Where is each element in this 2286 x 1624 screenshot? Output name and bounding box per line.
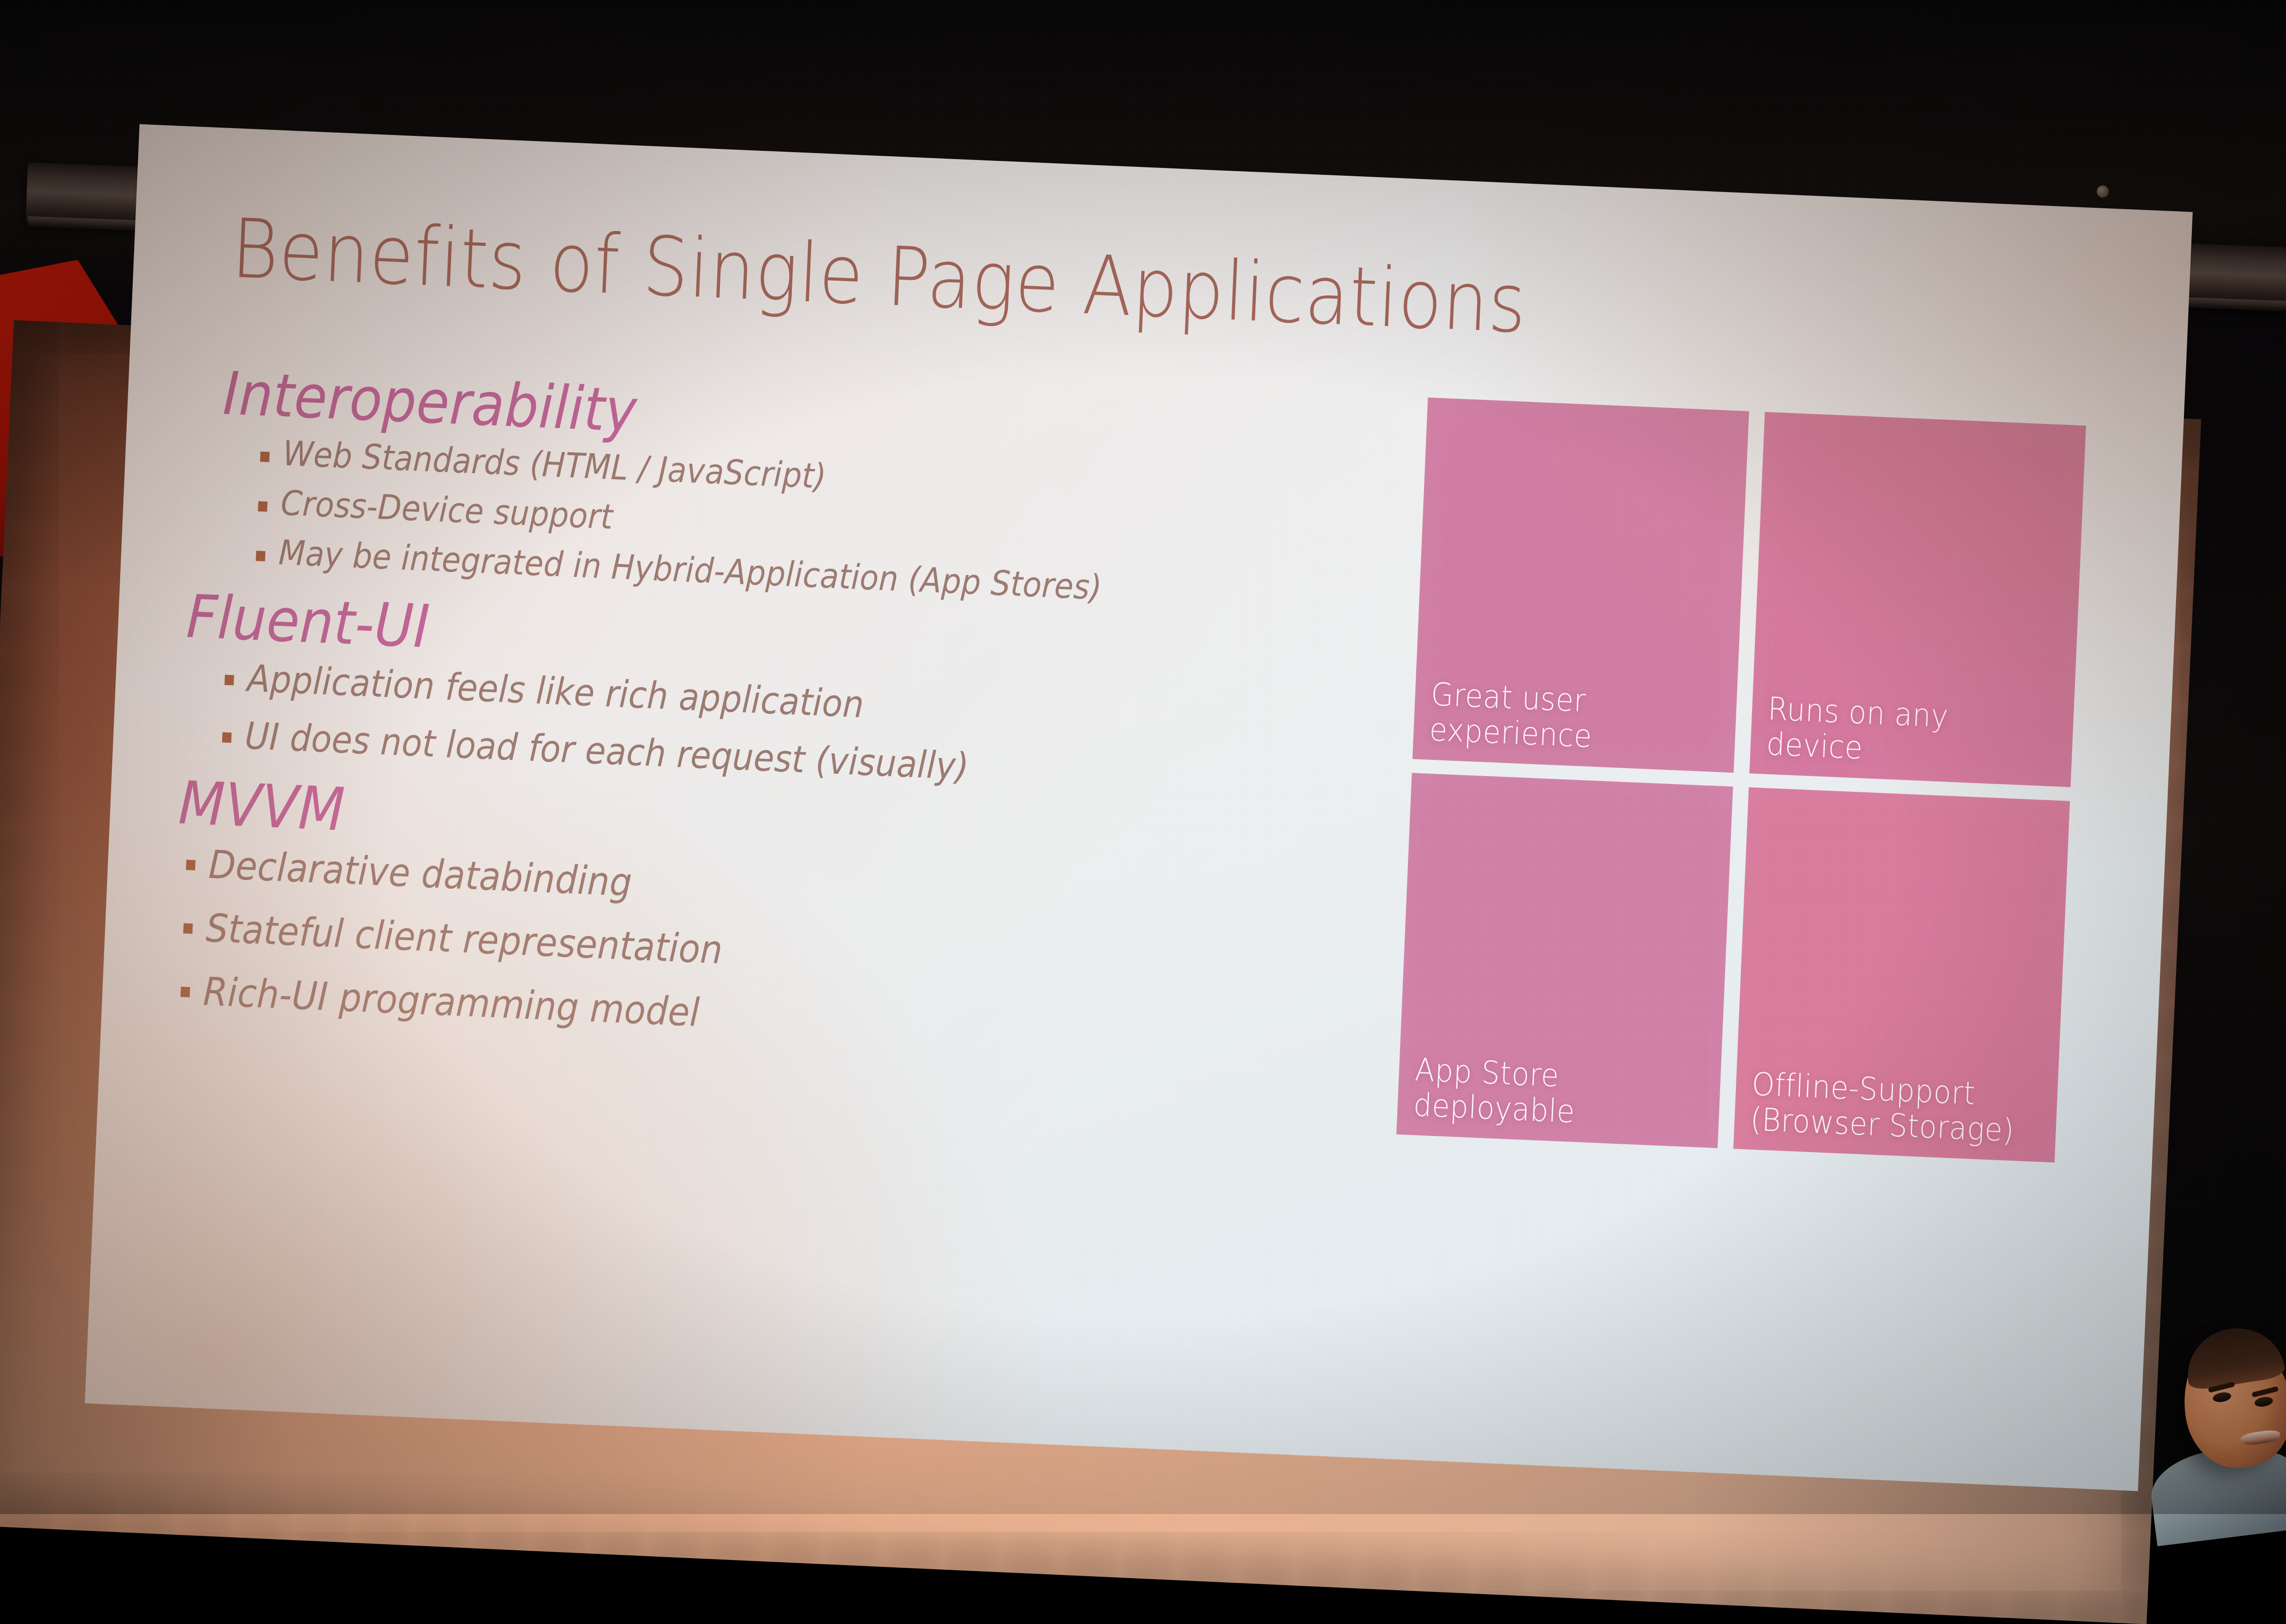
- speaker-hair: [2181, 1321, 2286, 1391]
- slide-body-content: Interoperability Web Standards (HTML / J…: [196, 360, 1346, 1079]
- tile-label: Runs on any device: [1766, 692, 2035, 774]
- tile-offline-support: Offline-Support (Browser Storage): [1734, 787, 2070, 1162]
- speaker-head: [2174, 1328, 2286, 1475]
- tile-label: Offline-Support (Browser Storage): [1750, 1067, 2016, 1149]
- tile-runs-on-any-device: Runs on any device: [1749, 412, 2086, 787]
- room-background: Benefits of Single Page Applications Int…: [0, 0, 2286, 1514]
- section-interoperability: Interoperability Web Standards (HTML / J…: [216, 360, 1346, 618]
- tile-great-user-experience: Great user experience: [1413, 398, 1749, 773]
- speaker-eye-right: [2254, 1396, 2274, 1408]
- speaker-shoulders: [2147, 1440, 2286, 1547]
- speaker-brow-left: [2208, 1381, 2235, 1393]
- benefit-tile-grid: Great user experience Runs on any device…: [1396, 398, 2086, 1162]
- section-fluent-ui: Fluent-UI Application feels like rich ap…: [208, 584, 1337, 805]
- tile-label: App Store deployable: [1413, 1053, 1577, 1130]
- tile-app-store-deployable: App Store deployable: [1396, 773, 1733, 1148]
- projection-screen: Benefits of Single Page Applications Int…: [0, 320, 2201, 1624]
- speaker-eye-left: [2212, 1391, 2232, 1404]
- speaker-mouth: [2240, 1429, 2281, 1446]
- slide-title: Benefits of Single Page Applications: [230, 207, 1824, 358]
- section-mvvm: MVVM Declarative databinding Stateful cl…: [197, 770, 1329, 1062]
- speaker-brow-right: [2252, 1386, 2279, 1398]
- tile-label: Great user experience: [1429, 677, 1594, 755]
- presentation-slide: Benefits of Single Page Applications Int…: [85, 124, 2193, 1491]
